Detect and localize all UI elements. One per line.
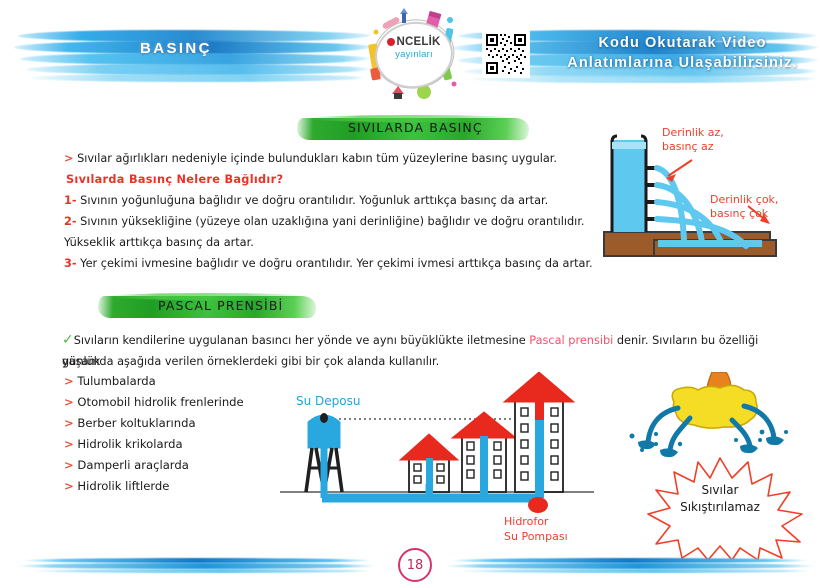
item-2-number: 2 — [64, 215, 72, 228]
qr-code-icon[interactable] — [482, 30, 530, 78]
squeezed-liquid-bag-illustration — [620, 372, 820, 467]
page-title: BASINÇ — [140, 40, 212, 57]
list-item: > Tulumbalarda — [64, 374, 156, 388]
starburst-line-2: Sıkıştırılamaz — [680, 500, 760, 514]
section-1-question: Sıvılarda Basınç Nelere Bağlıdır? — [66, 169, 283, 190]
section-2-title: PASCAL PRENSİBİ — [158, 298, 283, 313]
pascal-highlight: Pascal prensibi — [529, 334, 613, 347]
list-bullet-icon: > — [64, 479, 74, 493]
header-brush-left-stroke-5 — [30, 74, 366, 82]
tank-label-deep: Derinlik çok, basınç çok — [710, 193, 778, 221]
list-bullet-icon: > — [64, 395, 74, 409]
intro-text: Sıvılar ağırlıkları nedeniyle içinde bul… — [77, 152, 557, 165]
section-1-item-2: 2- Sıvının yüksekliğine (yüzeye olan uza… — [64, 211, 594, 232]
water-tank-jets-diagram: Derinlik az, basınç az Derinlik çok, bas… — [598, 128, 826, 260]
footer-bar-right-3 — [456, 569, 812, 573]
section-1-item-2-cont: Yükseklik arttıkça basınç da artar. — [64, 232, 254, 253]
footer-bar-left-3 — [30, 569, 374, 573]
list-bullet-icon: > — [64, 416, 74, 430]
qr-banner-line-1: Kodu Okutarak Video — [598, 35, 766, 51]
list-bullet-icon: > — [64, 458, 74, 472]
city-water-supply-diagram: Su Deposu Hidrofor Su Pompası — [272, 372, 602, 532]
list-bullet-icon: > — [64, 437, 74, 451]
check-icon: ✓ — [62, 332, 74, 348]
list-item-label: Hidrolik krikolarda — [77, 437, 182, 451]
list-item-label: Otomobil hidrolik frenlerinde — [77, 395, 243, 409]
starburst-text: Sıvılar Sıkıştırılamaz — [622, 482, 818, 516]
qr-banner-text: Kodu Okutarak Video Anlatımlarına Ulaşab… — [545, 33, 820, 73]
page-number: 18 — [398, 548, 432, 582]
item-2-text: Sıvının yüksekliğine (yüzeye olan uzaklı… — [80, 215, 584, 228]
list-item: > Hidrolik liftlerde — [64, 479, 169, 493]
list-item: > Damperli araçlarda — [64, 458, 189, 472]
starburst-line-1: Sıvılar — [701, 483, 738, 497]
item-1-text: Sıvının yoğunluğuna bağlıdır ve doğru or… — [80, 194, 548, 207]
list-item: > Berber koltuklarında — [64, 416, 196, 430]
qr-banner-line-2: Anlatımlarına Ulaşabilirsiniz. — [567, 55, 797, 71]
section-2-paragraph-line-2: yaşamda aşağıda verilen örneklerdeki gib… — [62, 351, 762, 372]
section-1-item-1: 1- Sıvının yoğunluğuna bağlıdır ve doğru… — [64, 190, 584, 211]
item-3-text: Yer çekimi ivmesine bağlıdır ve doğru or… — [80, 257, 592, 270]
city-label-water-tank: Su Deposu — [296, 394, 360, 408]
worksheet-page: BASINÇ — [0, 0, 828, 584]
item-1-number: 1 — [64, 194, 72, 207]
list-item-label: Berber koltuklarında — [77, 416, 195, 430]
tank-label-shallow: Derinlik az, basınç az — [662, 126, 724, 154]
item-3-number: 3 — [64, 257, 72, 270]
list-bullet-icon: > — [64, 374, 74, 388]
page-header: BASINÇ — [0, 0, 828, 104]
logo-subtitle: yayınları — [375, 49, 453, 60]
list-item-label: Tulumbalarda — [77, 374, 155, 388]
logo-mark-icon — [387, 38, 395, 46]
logo-brand-name: NCELİK — [375, 36, 453, 48]
list-item: > Hidrolik krikolarda — [64, 437, 183, 451]
list-item-label: Hidrolik liftlerde — [77, 479, 169, 493]
list-item: > Otomobil hidrolik frenlerinde — [64, 395, 244, 409]
list-item-label: Damperli araçlarda — [77, 458, 188, 472]
section-1-title: SIVILARDA BASINÇ — [348, 120, 483, 135]
intro-bullet-icon: > — [64, 152, 73, 165]
section-1-item-3: 3- Yer çekimi ivmesine bağlıdır ve doğru… — [64, 253, 594, 274]
section-1-intro: > Sıvılar ağırlıkları nedeniyle içinde b… — [64, 148, 584, 169]
page-footer: 18 — [0, 538, 828, 584]
pascal-text-part-1: Sıvıların kendilerine uygulanan basıncı … — [74, 334, 530, 347]
publisher-logo: NCELİK yayınları — [358, 8, 470, 100]
